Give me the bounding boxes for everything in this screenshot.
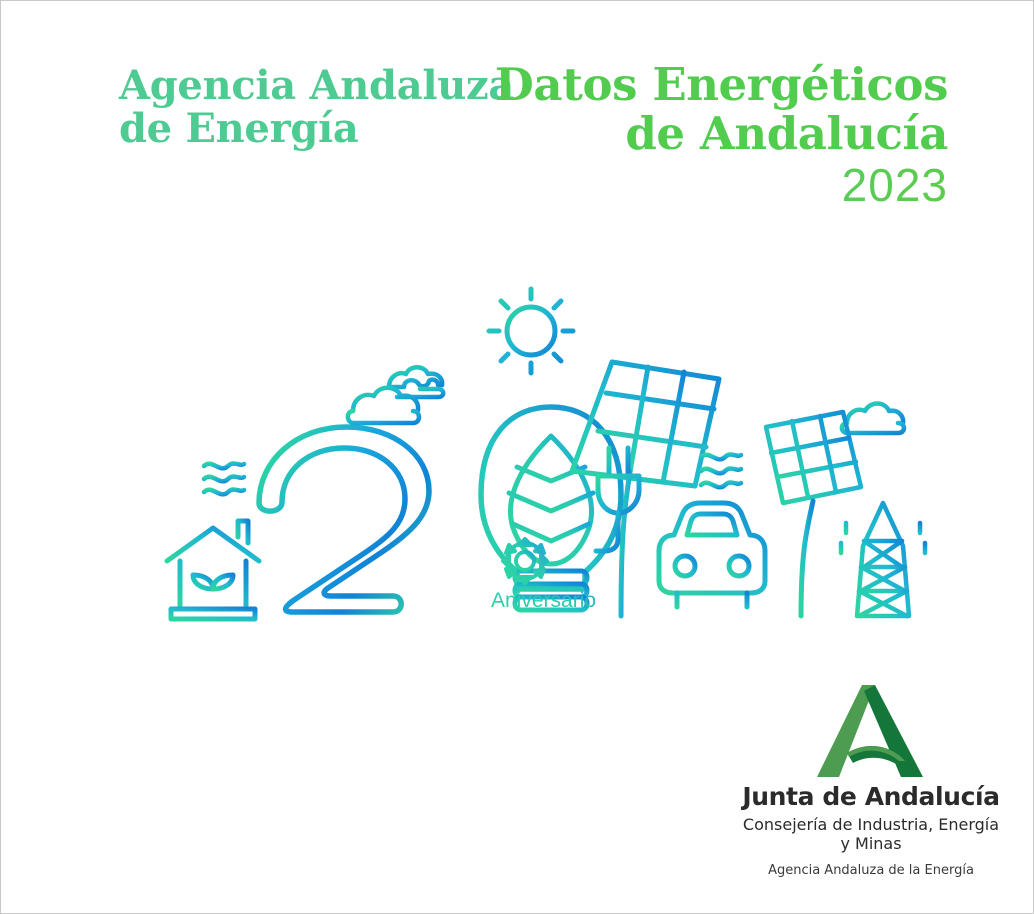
lightbulb-leaf-icon — [481, 407, 621, 610]
logo-organization: Junta de Andalucía — [736, 783, 1006, 811]
publication-title: Datos Energéticos de Andalucía — [428, 61, 948, 158]
cloud-icon — [353, 388, 418, 411]
house-solar-icon — [167, 521, 259, 619]
publication-title-block: Datos Energéticos de Andalucía 2023 — [428, 61, 948, 208]
cover-page: Agencia Andaluza de Energía Datos Energé… — [0, 0, 1034, 914]
logo-agency: Agencia Andaluza de la Energía — [736, 863, 1006, 879]
water-waves-icon — [701, 454, 741, 487]
solar-panel-small-pole — [801, 501, 813, 616]
sun-icon — [489, 289, 573, 373]
publication-year: 2023 — [428, 162, 948, 208]
number-two-icon — [259, 427, 429, 612]
junta-de-andalucia-a-mark — [815, 683, 927, 779]
solar-panel-small-icon — [766, 412, 861, 503]
anniversary-label: Aniversario — [491, 589, 596, 612]
cloud-icon — [842, 423, 904, 433]
electric-car-icon — [659, 503, 765, 607]
cloud-icon — [847, 404, 903, 424]
water-waves-icon — [204, 463, 244, 494]
cloud-icon — [389, 367, 442, 387]
junta-de-andalucia-logo: Junta de Andalucía Consejería de Industr… — [736, 683, 1006, 878]
energy-illustration: Aniversario — [1, 271, 1034, 641]
power-tower-icon — [841, 503, 925, 616]
cloud-icon — [348, 411, 419, 423]
gear-icon — [503, 539, 547, 583]
logo-department: Consejería de Industria, Energía y Minas — [736, 815, 1006, 854]
